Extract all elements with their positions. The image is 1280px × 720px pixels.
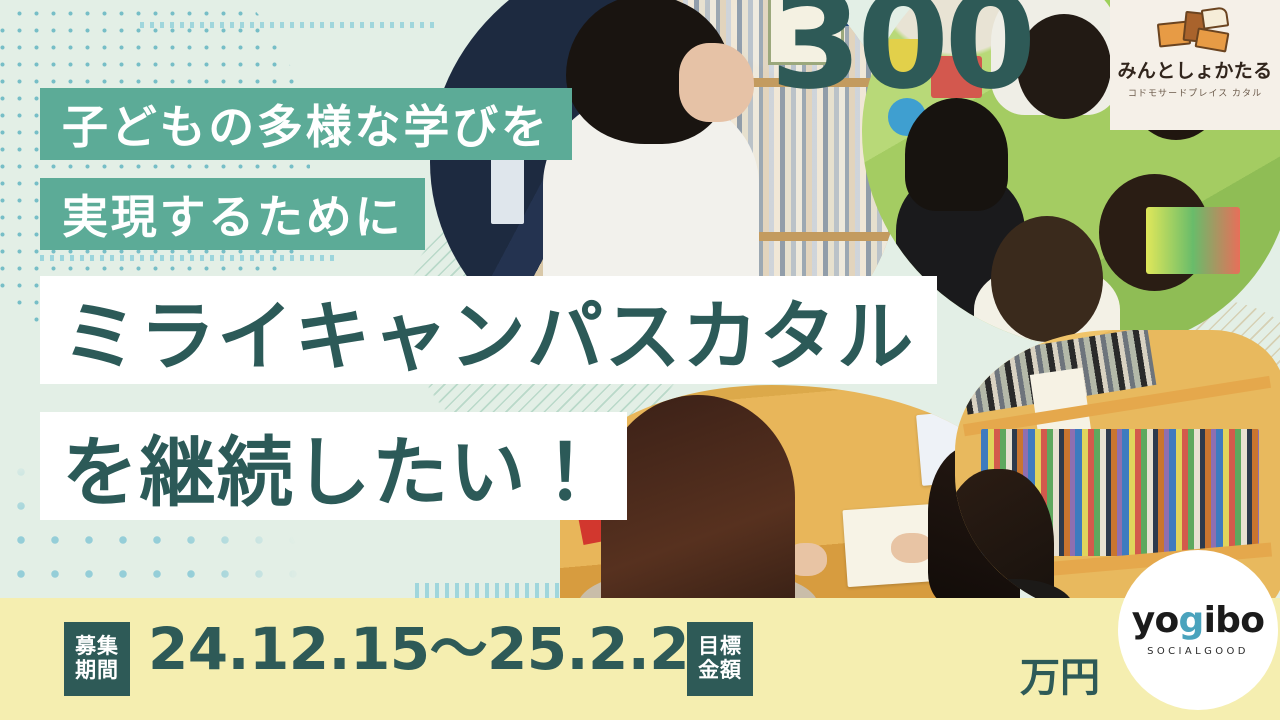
yogibo-word-part2: ibo [1204,600,1265,641]
campaign-banner: 子どもの多様な学びを 実現するために ミライキャンパスカタル を継続したい！ み… [0,0,1280,720]
yogibo-word-part1: yo [1132,600,1179,641]
headline-line-2: 実現するために [40,178,425,250]
period-label-line1: 募集 [75,635,119,659]
yogibo-tagline: SOCIALGOOD [1147,646,1249,657]
period-label: 募集 期間 [64,622,130,696]
organization-logo: みんとしょかたる コドモサードプレイス カタル [1110,0,1280,130]
child-head [991,216,1103,342]
person-face [679,43,754,122]
headline-project-title: ミライキャンパスカタル [40,276,937,384]
bottle-prop [491,153,524,223]
dashed-line-top [140,22,440,28]
hand [891,533,932,564]
organization-name: みんとしょかたる [1117,56,1272,83]
organization-subtitle: コドモサードプレイス カタル [1128,86,1262,99]
headline-line-4: を継続したい！ [40,412,627,520]
book-shape [1195,27,1230,52]
stacked-books-icon [1156,6,1234,54]
yogibo-word-accent: g [1179,600,1204,641]
open-book-shape [1201,6,1230,29]
campaign-info-bar: 募集 期間 24.12.15〜25.2.28 目標 金額 万円 [0,598,1280,720]
goal-label-line2: 金額 [698,659,742,683]
goal-amount-unit: 万円 [1020,658,1100,698]
picture-book [1146,207,1241,274]
headline-line-1: 子どもの多様な学びを [40,88,572,160]
goal-amount-number: 300 [770,0,1032,108]
yogibo-wordmark: yogibo [1132,603,1265,639]
campaign-period-value: 24.12.15〜25.2.28 [148,620,729,678]
goal-label: 目標 金額 [687,622,753,696]
dashed-line-middle [40,255,340,261]
sponsor-badge-yogibo: yogibo SOCIALGOOD [1118,550,1278,710]
goal-label-line1: 目標 [698,635,742,659]
period-label-line2: 期間 [75,659,119,683]
handwritten-sign [1030,367,1091,438]
